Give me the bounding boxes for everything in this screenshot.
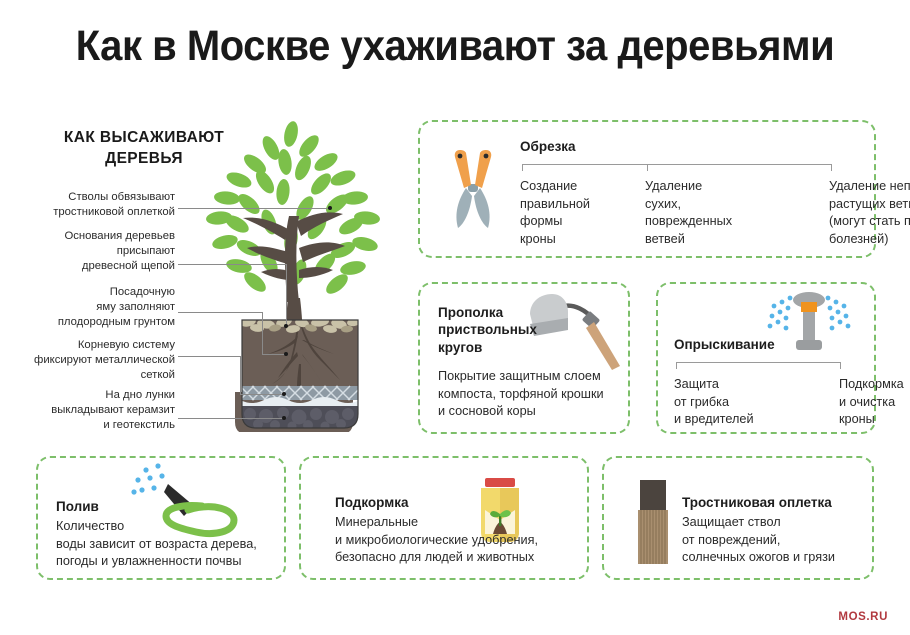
leader-line-5 [178,418,284,419]
pruning-shears-icon [444,144,502,236]
card-feeding-title: Подкормка [335,494,409,511]
card-watering[interactable]: Полив Количество воды зависит от возраст… [36,456,286,580]
leader-line-3c [262,354,286,355]
card-feeding-text: Минеральные и микробиологические удобрен… [335,514,585,567]
card-pruning-column-1: Удаление сухих, поврежденных ветвей [645,178,755,248]
leader-line-2b [286,264,287,326]
card-spraying-title: Опрыскивание [674,336,775,353]
planting-label-1: Основания деревьев присыпают древесной щ… [30,229,175,274]
card-pruning[interactable]: Обрезка Создание правильной формы кроны … [418,120,876,258]
leader-line-3b [262,312,263,354]
spraying-bracket [676,362,841,370]
card-spraying[interactable]: Опрыскивание Защита от грибка и вредител… [656,282,876,434]
leader-dot-3 [284,352,288,356]
pruning-bracket [522,164,832,172]
infographic-page: Как в Москве ухаживают за деревьями КАК … [0,0,910,635]
leader-line-2a [178,264,286,265]
leader-dot-2 [284,324,288,328]
card-pruning-title: Обрезка [520,138,576,155]
card-watering-title: Полив [56,498,99,515]
card-feeding[interactable]: Подкормка Минеральные и микробиологическ… [299,456,589,580]
card-watering-text: Количество воды зависит от возраста дере… [56,518,286,571]
card-weeding[interactable]: Прополка приствольных кругов Покрытие за… [418,282,630,434]
card-pruning-column-0: Создание правильной формы кроны [520,178,620,248]
card-weeding-text: Покрытие защитным слоем компоста, торфян… [438,368,624,421]
card-pruning-column-2: Удаление неправильно растущих ветвей (мо… [829,178,910,248]
leader-dot-1 [328,206,332,210]
mosru-logo[interactable]: MOS.RU [838,611,888,623]
leader-dot-5 [282,416,286,420]
leader-dot-4 [282,392,286,396]
leader-line-1 [178,208,330,209]
planting-label-2: Посадочную яму заполняют плодородным гру… [25,285,175,330]
planting-label-4: На дно лунки выкладывают керамзит и геот… [25,388,175,433]
card-reed-wrap[interactable]: Тростниковая оплетка Защищает ствол от п… [602,456,874,580]
card-reed-wrap-title: Тростниковая оплетка [682,494,832,511]
card-reed-wrap-text: Защищает ствол от повреждений, солнечных… [682,514,872,567]
leader-line-4a [178,356,240,357]
card-spraying-column-0: Защита от грибка и вредителей [674,376,784,429]
reed-wrap-icon [630,480,676,566]
card-weeding-title: Прополка приствольных кругов [438,304,548,356]
leader-line-4c [240,394,284,395]
leader-line-3a [178,312,262,313]
leader-line-4b [240,356,241,394]
planting-pit-cross-section [240,318,360,430]
page-title: Как в Москве ухаживают за деревьями [32,22,878,71]
card-spraying-column-1: Подкормка и очистка кроны [839,376,910,429]
planting-label-3: Корневую систему фиксируют металлической… [20,338,175,383]
planting-label-0: Стволы обвязывают тростниковой оплеткой [30,190,175,220]
